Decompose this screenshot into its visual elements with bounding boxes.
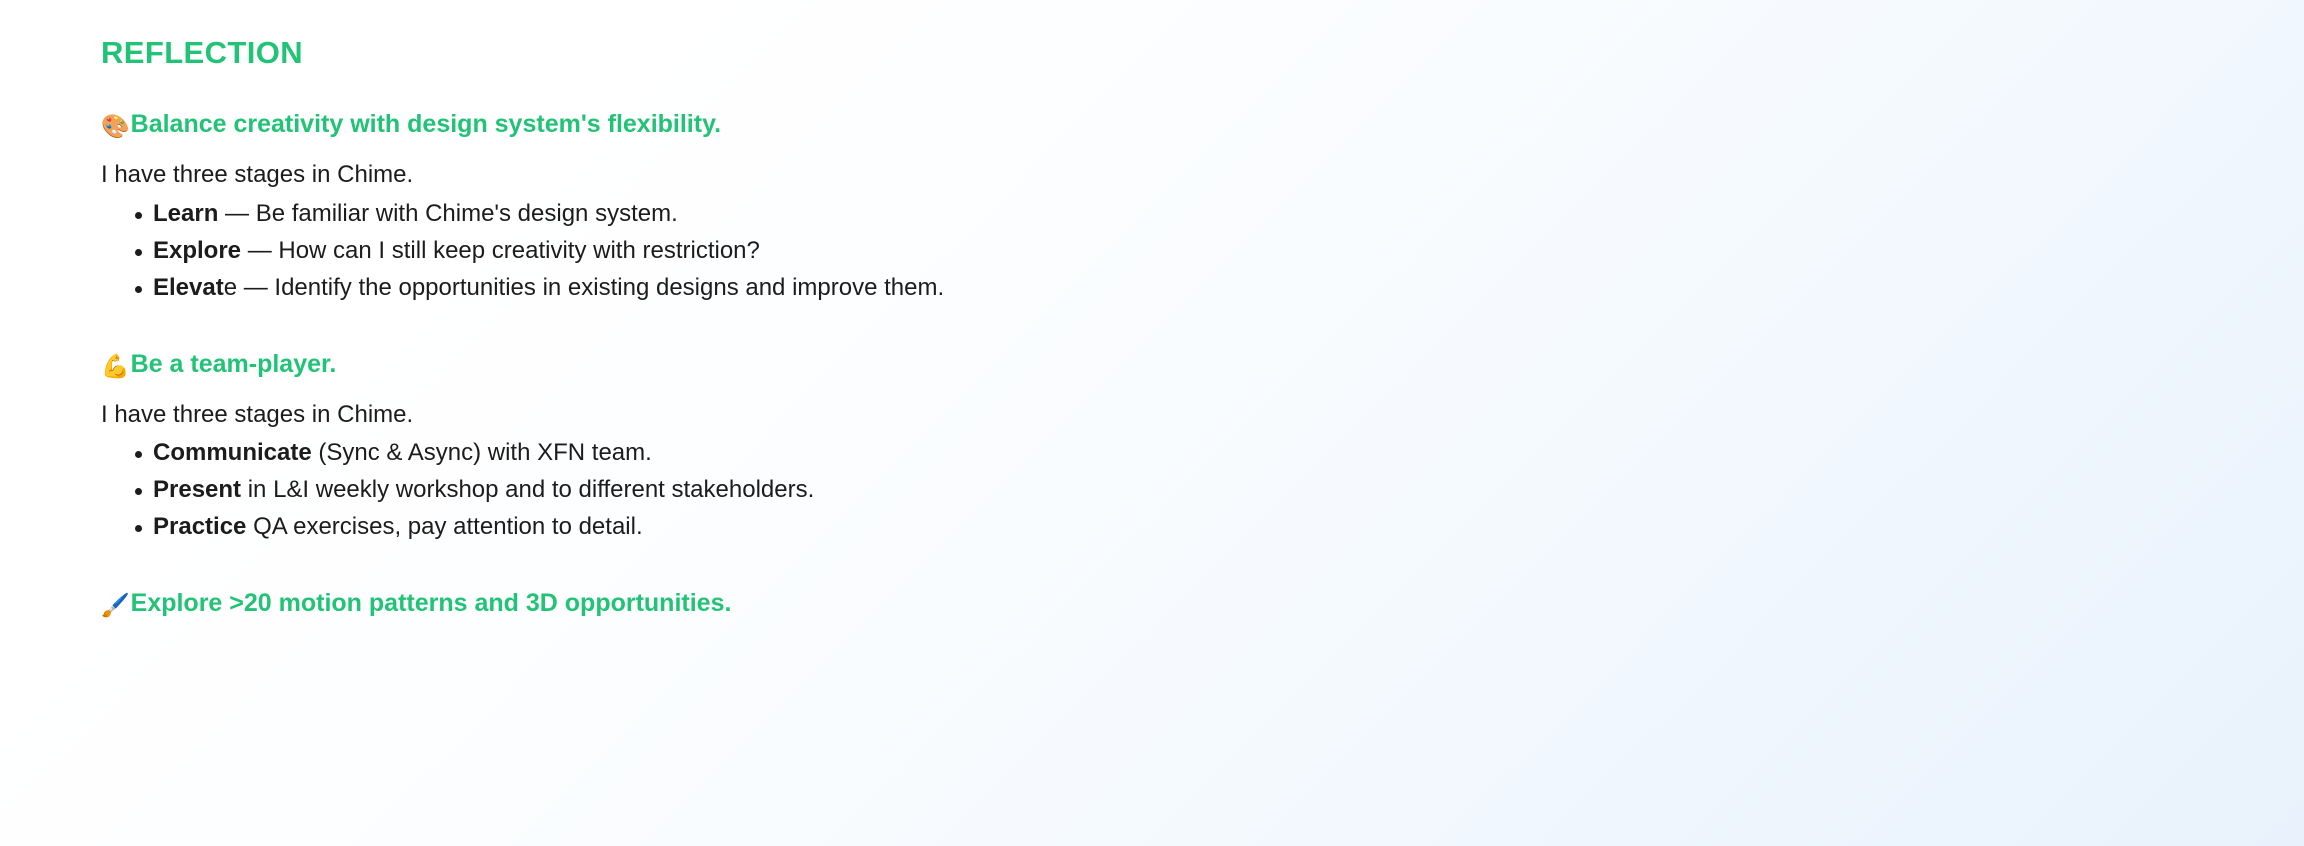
page-title: REFLECTION xyxy=(101,34,2304,71)
list-item: Present in L&I weekly workshop and to di… xyxy=(101,475,2304,505)
list-item-bold: Communicate xyxy=(153,439,312,466)
list-item-bold: Learn xyxy=(153,200,218,227)
list-item: Practice QA exercises, pay attention to … xyxy=(101,512,2304,542)
list-item-bold: Practice xyxy=(153,513,246,540)
list-item: Elevate — Identify the opportunities in … xyxy=(101,273,2304,303)
artist-palette-emoji: 🎨 xyxy=(101,116,130,139)
reflection-slide: REFLECTION 🎨Balance creativity with desi… xyxy=(0,0,2304,846)
section-heading: 🎨Balance creativity with design system's… xyxy=(101,109,2304,140)
section-explore-motion: 🖌️Explore >20 motion patterns and 3D opp… xyxy=(101,588,2304,619)
list-item: Learn — Be familiar with Chime's design … xyxy=(101,199,2304,229)
section-heading: 💪Be a team-player. xyxy=(101,349,2304,380)
list-item-bold: Elevat xyxy=(153,274,224,301)
list-item-rest: — Be familiar with Chime's design system… xyxy=(218,200,677,227)
section-intro: I have three stages in Chime. xyxy=(101,399,2304,430)
section-heading-text: Explore >20 motion patterns and 3D oppor… xyxy=(131,589,732,617)
list-item-bold: Explore xyxy=(153,237,241,264)
section-intro: I have three stages in Chime. xyxy=(101,159,2304,190)
list-item-rest: QA exercises, pay attention to detail. xyxy=(246,513,642,540)
list-item-rest: — How can I still keep creativity with r… xyxy=(241,237,760,264)
list-item: Explore — How can I still keep creativit… xyxy=(101,236,2304,266)
list-item-rest: e — Identify the opportunities in existi… xyxy=(224,274,944,301)
bullet-list: Learn — Be familiar with Chime's design … xyxy=(101,199,2304,303)
bullet-list: Communicate (Sync & Async) with XFN team… xyxy=(101,438,2304,542)
section-heading: 🖌️Explore >20 motion patterns and 3D opp… xyxy=(101,588,2304,619)
section-team-player: 💪Be a team-player. I have three stages i… xyxy=(101,349,2304,542)
list-item: Communicate (Sync & Async) with XFN team… xyxy=(101,438,2304,468)
list-item-bold: Present xyxy=(153,476,241,503)
section-heading-text: Be a team-player. xyxy=(131,350,337,378)
section-balance-creativity: 🎨Balance creativity with design system's… xyxy=(101,109,2304,302)
section-heading-text: Balance creativity with design system's … xyxy=(131,110,721,138)
list-item-rest: (Sync & Async) with XFN team. xyxy=(312,439,652,466)
paintbrush-emoji: 🖌️ xyxy=(101,595,130,618)
flexed-biceps-emoji: 💪 xyxy=(101,356,130,379)
list-item-rest: in L&I weekly workshop and to different … xyxy=(241,476,814,503)
